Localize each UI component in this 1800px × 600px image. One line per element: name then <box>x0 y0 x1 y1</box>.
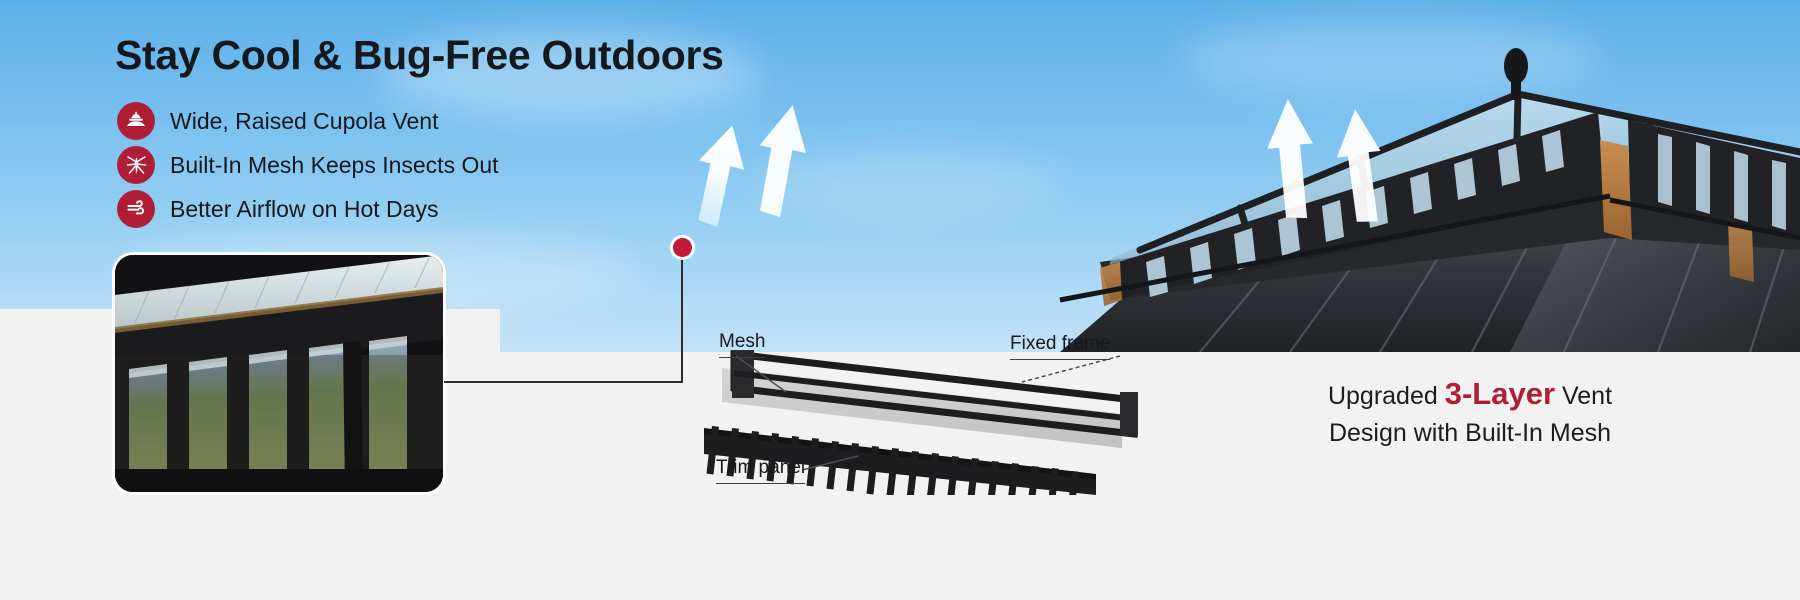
infographic-banner: Stay Cool & Bug-Free Outdoors Wide, Rais… <box>0 0 1800 600</box>
list-item: Better Airflow on Hot Days <box>117 187 499 231</box>
vent-panel-closeup-photo <box>115 255 443 492</box>
airflow-arrow-icon <box>750 100 812 220</box>
airflow-arrow-icon <box>1262 95 1322 223</box>
promo-text: Upgraded 3-Layer Vent Design with Built-… <box>1190 375 1750 452</box>
airflow-wind-icon <box>117 190 155 228</box>
mosquito-icon <box>117 146 155 184</box>
airflow-arrow-icon <box>690 120 750 230</box>
diagram-label-fixed-frame: Fixed frame <box>1010 333 1110 360</box>
promo-line2: Design with Built-In Mesh <box>1329 419 1611 447</box>
promo-accent: 3-Layer <box>1445 376 1555 411</box>
callout-hotspot-marker <box>673 238 692 257</box>
list-item-label: Better Airflow on Hot Days <box>170 196 438 223</box>
list-item-label: Wide, Raised Cupola Vent <box>170 108 439 135</box>
diagram-label-mesh: Mesh <box>719 331 765 358</box>
list-item: Built-In Mesh Keeps Insects Out <box>117 143 499 187</box>
feature-list: Wide, Raised Cupola Vent Built-In Mesh K… <box>117 99 499 231</box>
page-title: Stay Cool & Bug-Free Outdoors <box>115 32 724 79</box>
promo-line1-pre: Upgraded <box>1328 382 1445 410</box>
list-item-label: Built-In Mesh Keeps Insects Out <box>170 152 499 179</box>
list-item: Wide, Raised Cupola Vent <box>117 99 499 143</box>
cupola-vent-icon <box>117 102 155 140</box>
diagram-label-trim-panel: Trim panel <box>716 457 805 484</box>
airflow-arrow-icon <box>1332 105 1390 227</box>
promo-line1-post: Vent <box>1555 382 1612 410</box>
